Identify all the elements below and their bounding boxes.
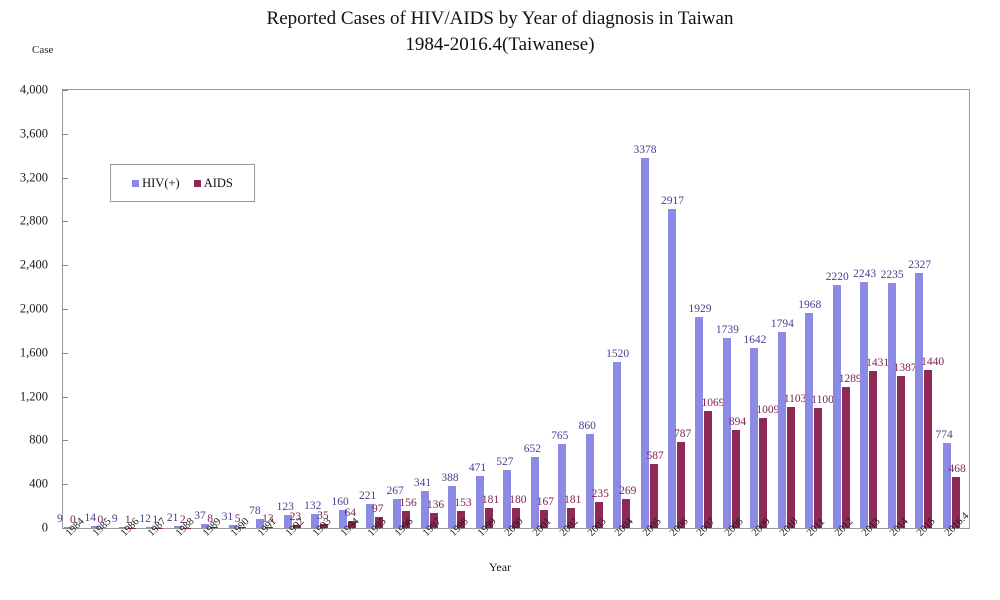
- bar-aids[interactable]: [897, 376, 905, 528]
- y-axis-tick-label: 0: [42, 521, 48, 536]
- bar-group: 22351387: [887, 90, 914, 528]
- legend-label: HIV(+): [142, 176, 180, 191]
- bar-group: 22197: [365, 90, 392, 528]
- bar-hiv[interactable]: [750, 348, 758, 528]
- bar-value-label-hiv: 2917: [661, 195, 684, 207]
- bar-value-label-hiv: 31: [222, 511, 234, 523]
- bar-hiv[interactable]: [888, 283, 896, 528]
- bar-value-label-hiv: 78: [249, 505, 261, 517]
- bar-value-label-aids: 468: [949, 463, 966, 475]
- legend-item-hiv[interactable]: HIV(+): [132, 176, 180, 191]
- chart-title-line-1: Reported Cases of HIV/AIDS by Year of di…: [267, 8, 734, 29]
- bar-hiv[interactable]: [833, 285, 841, 528]
- bar-group: 1739894: [722, 90, 749, 528]
- bar-aids[interactable]: [732, 430, 740, 528]
- bar-group: 212: [173, 90, 200, 528]
- bar-value-label-aids: 180: [509, 494, 526, 506]
- bar-hiv[interactable]: [531, 457, 539, 528]
- bar-group: 19291069: [694, 90, 721, 528]
- bar-group: 22431431: [859, 90, 886, 528]
- bar-value-label-aids: 181: [564, 494, 581, 506]
- bar-value-label-aids: 97: [372, 503, 384, 515]
- bar-hiv[interactable]: [641, 158, 649, 528]
- bar-group: 16421009: [749, 90, 776, 528]
- bar-group: 140: [90, 90, 117, 528]
- bar-hiv[interactable]: [915, 273, 923, 528]
- bar-group: 90: [63, 90, 90, 528]
- bar-value-label-aids: 235: [592, 488, 609, 500]
- bar-aids[interactable]: [704, 411, 712, 528]
- bar-group: 19681100: [804, 90, 831, 528]
- bar-value-label-hiv: 527: [496, 456, 513, 468]
- y-axis-tick-label: 1,600: [20, 345, 48, 360]
- y-axis: 4,0003,6003,2002,8002,4002,0001,6001,200…: [0, 89, 62, 529]
- bar-value-label-hiv: 652: [524, 443, 541, 455]
- bar-value-label-hiv: 1794: [771, 318, 794, 330]
- y-axis-unit-label: Case: [32, 44, 53, 56]
- bar-group: 652167: [530, 90, 557, 528]
- bar-hiv[interactable]: [695, 317, 703, 528]
- bar-value-label-hiv: 471: [469, 462, 486, 474]
- bar-hiv[interactable]: [558, 444, 566, 528]
- bar-value-label-hiv: 3378: [634, 144, 657, 156]
- chart-title-line-2: 1984-2016.4(Taiwanese): [0, 32, 1000, 58]
- bar-hiv[interactable]: [860, 282, 868, 528]
- bar-group: 121: [145, 90, 172, 528]
- bar-value-label-aids: 136: [427, 499, 444, 511]
- bar-group: 774468: [942, 90, 969, 528]
- page-title: Reported Cases of HIV/AIDS by Year of di…: [0, 6, 1000, 58]
- legend-item-aids[interactable]: AIDS: [194, 176, 233, 191]
- legend-swatch-icon: [132, 180, 139, 187]
- bar-value-label-hiv: 37: [194, 510, 206, 522]
- bar-value-label-aids: 156: [399, 497, 416, 509]
- bar-value-label-hiv: 2243: [853, 268, 876, 280]
- bar-value-label-hiv: 9: [57, 513, 63, 525]
- bar-value-label-hiv: 2235: [881, 269, 904, 281]
- y-axis-tick-label: 3,200: [20, 170, 48, 185]
- bar-value-label-hiv: 21: [167, 512, 179, 524]
- y-axis-tick-label: 400: [29, 477, 48, 492]
- plot-area: 9014091121212378315781312323132351606422…: [63, 90, 969, 528]
- bar-aids[interactable]: [759, 418, 767, 528]
- bar-group: 315: [228, 90, 255, 528]
- y-axis-tick-label: 800: [29, 433, 48, 448]
- bar-value-label-hiv: 2327: [908, 259, 931, 271]
- bar-group: 378: [200, 90, 227, 528]
- bar-value-label-hiv: 267: [386, 485, 403, 497]
- bar-value-label-hiv: 860: [579, 420, 596, 432]
- bar-hiv[interactable]: [805, 313, 813, 528]
- bar-aids[interactable]: [869, 371, 877, 528]
- bar-group: 91: [118, 90, 145, 528]
- bar-value-label-hiv: 388: [441, 472, 458, 484]
- bar-group: 12323: [283, 90, 310, 528]
- bar-aids[interactable]: [842, 387, 850, 528]
- bar-value-label-hiv: 1520: [606, 348, 629, 360]
- y-axis-tick-label: 1,200: [20, 389, 48, 404]
- bar-group: 22201289: [832, 90, 859, 528]
- bar-group: 23271440: [914, 90, 941, 528]
- bar-value-label-aids: 1103: [784, 393, 807, 405]
- legend-swatch-icon: [194, 180, 201, 187]
- y-axis-tick-label: 2,000: [20, 302, 48, 317]
- bar-value-label-hiv: 341: [414, 477, 431, 489]
- chart-page: Reported Cases of HIV/AIDS by Year of di…: [0, 0, 1000, 600]
- bar-group: 3378587: [640, 90, 667, 528]
- bar-group: 527180: [502, 90, 529, 528]
- y-axis-tick-label: 2,400: [20, 258, 48, 273]
- bar-value-label-hiv: 1929: [688, 303, 711, 315]
- bar-aids[interactable]: [677, 442, 685, 528]
- bar-value-label-hiv: 1739: [716, 324, 739, 336]
- x-axis-title: Year: [0, 560, 1000, 575]
- y-axis-tick-label: 4,000: [20, 83, 48, 98]
- bar-value-label-hiv: 1968: [798, 299, 821, 311]
- bar-group: 860235: [585, 90, 612, 528]
- bar-hiv[interactable]: [668, 209, 676, 528]
- bar-aids[interactable]: [814, 408, 822, 528]
- bar-value-label-aids: 181: [482, 494, 499, 506]
- bar-aids[interactable]: [924, 370, 932, 528]
- bar-hiv[interactable]: [778, 332, 786, 528]
- bar-aids[interactable]: [787, 407, 795, 528]
- bar-value-label-aids: 269: [619, 485, 636, 497]
- legend-label: AIDS: [204, 176, 233, 191]
- bar-group: 267156: [392, 90, 419, 528]
- bar-group: 765181: [557, 90, 584, 528]
- bar-value-label-hiv: 765: [551, 430, 568, 442]
- bar-value-label-hiv: 1642: [743, 334, 766, 346]
- bar-value-label-aids: 894: [729, 416, 746, 428]
- bar-value-label-aids: 167: [537, 496, 554, 508]
- bar-hiv[interactable]: [613, 362, 621, 528]
- bar-group: 16064: [338, 90, 365, 528]
- bar-value-label-hiv: 2220: [826, 271, 849, 283]
- bar-hiv[interactable]: [586, 434, 594, 528]
- bar-group: 341136: [420, 90, 447, 528]
- bar-group: 13235: [310, 90, 337, 528]
- bar-value-label-aids: 153: [454, 497, 471, 509]
- legend: HIV(+)AIDS: [110, 164, 255, 202]
- bar-value-label-hiv: 774: [936, 429, 953, 441]
- bar-group: 7813: [255, 90, 282, 528]
- y-axis-tick-label: 3,600: [20, 126, 48, 141]
- bar-value-label-hiv: 221: [359, 490, 376, 502]
- y-axis-tick-label: 2,800: [20, 214, 48, 229]
- bar-value-label-aids: 587: [647, 450, 664, 462]
- bar-hiv[interactable]: [723, 338, 731, 528]
- bar-hiv[interactable]: [943, 443, 951, 528]
- bar-value-label-aids: 787: [674, 428, 691, 440]
- bar-value-label-aids: 1100: [811, 394, 834, 406]
